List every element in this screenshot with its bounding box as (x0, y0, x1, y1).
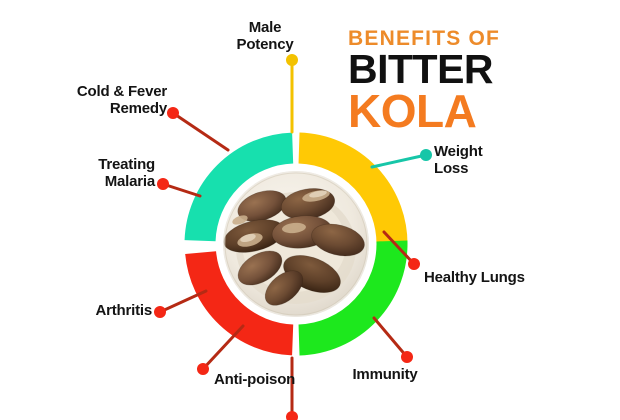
benefit-label-male-potency: Male Potency (237, 20, 294, 54)
benefit-dot-treating-malaria[interactable] (157, 178, 169, 190)
title-sub: KOLA (348, 90, 578, 132)
title-main: BITTER (348, 51, 578, 89)
benefit-dot-healthy-lungs[interactable] (408, 258, 420, 270)
benefit-label-weight-loss: Weight Loss (434, 144, 483, 178)
benefit-label-treating-malaria: Treating Malaria (98, 157, 155, 191)
benefit-dot-arthritis[interactable] (154, 306, 166, 318)
benefit-label-healthy-lungs: Healthy Lungs (424, 270, 525, 287)
benefit-dot-male-potency[interactable] (286, 54, 298, 66)
benefit-label-anti-poison: Anti-poison (214, 372, 295, 389)
infographic-canvas: BENEFITS OF BITTER KOLA Male PotencyCold… (0, 0, 620, 420)
donut-svg (180, 128, 412, 360)
benefits-donut-chart (180, 128, 412, 360)
benefit-label-arthritis: Arthritis (95, 303, 152, 320)
bitter-kola-nuts-photo (220, 171, 369, 317)
benefit-label-immunity: Immunity (352, 367, 417, 384)
benefit-label-cold-fever-remedy: Cold & Fever Remedy (77, 84, 167, 118)
benefit-dot-weight-loss[interactable] (420, 149, 432, 161)
benefit-dot-anti-poison[interactable] (197, 363, 209, 375)
infographic-title: BENEFITS OF BITTER KOLA (348, 28, 578, 132)
benefit-dot-bottom-cut-off[interactable] (286, 411, 298, 420)
benefit-dot-cold-fever-remedy[interactable] (167, 107, 179, 119)
benefit-dot-immunity[interactable] (401, 351, 413, 363)
